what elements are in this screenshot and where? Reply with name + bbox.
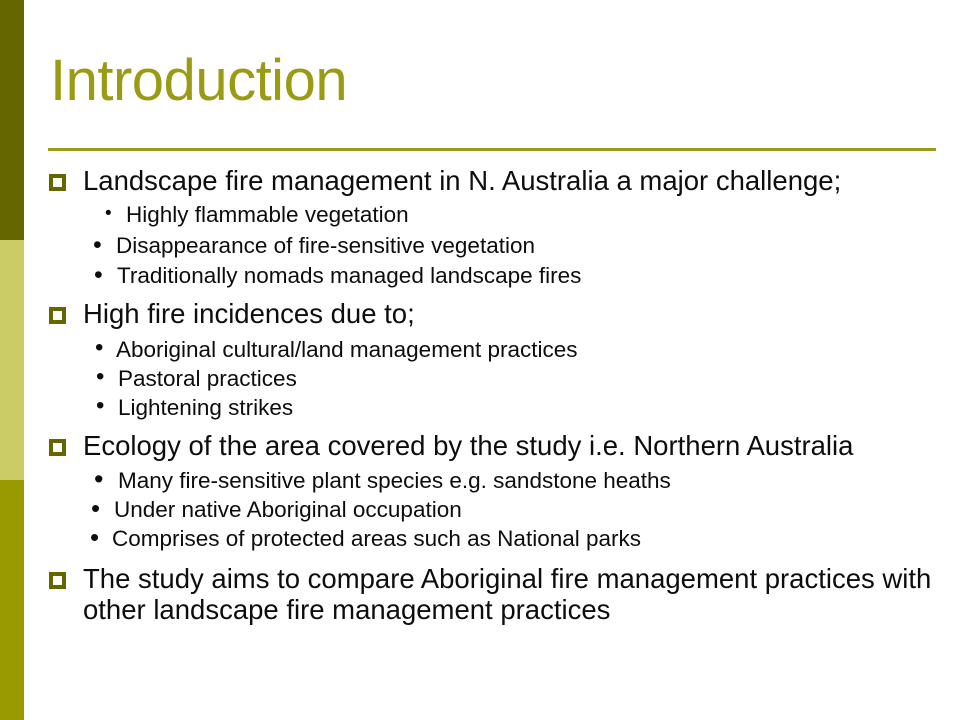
square-bullet-icon: [49, 572, 66, 589]
bullet-level1: The study aims to compare Aboriginal fir…: [44, 563, 954, 626]
bullet-text: Lightening strikes: [118, 395, 293, 420]
dot-bullet-icon: •: [94, 466, 103, 493]
bullet-text: Landscape fire management in N. Australi…: [83, 165, 841, 196]
slide-title: Introduction: [50, 52, 347, 110]
dot-bullet-icon: •: [94, 263, 103, 288]
title-divider: [48, 148, 936, 151]
bullet-level1: Landscape fire management in N. Australi…: [44, 165, 954, 196]
dot-bullet-icon: •: [90, 524, 99, 550]
bullet-level1: Ecology of the area covered by the study…: [44, 430, 954, 461]
bullet-level2: • Under native Aboriginal occupation: [44, 496, 954, 523]
bullet-text: Comprises of protected areas such as Nat…: [112, 526, 641, 551]
bullet-text: The study aims to compare Aboriginal fir…: [83, 563, 931, 625]
dot-bullet-icon: •: [105, 204, 112, 223]
slide: Introduction Landscape fire management i…: [0, 0, 960, 720]
bullet-level2: • Comprises of protected areas such as N…: [44, 525, 954, 552]
bullet-level2: • Traditionally nomads managed landscape…: [44, 262, 954, 289]
bullet-level2: • Aboriginal cultural/land management pr…: [44, 336, 954, 363]
dot-bullet-icon: •: [96, 365, 104, 389]
bullet-level2: • Pastoral practices: [44, 365, 954, 392]
square-bullet-icon: [49, 307, 66, 324]
bullet-text: High fire incidences due to;: [83, 298, 415, 329]
square-bullet-icon: [49, 174, 66, 191]
square-bullet-icon: [49, 439, 66, 456]
sidebar-band-top: [0, 0, 24, 240]
bullet-level2: • Lightening strikes: [44, 394, 954, 421]
bullet-text: Traditionally nomads managed landscape f…: [117, 263, 581, 288]
bullet-text: Pastoral practices: [118, 366, 297, 391]
slide-body: Landscape fire management in N. Australi…: [44, 165, 954, 627]
bullet-text: Aboriginal cultural/land management prac…: [116, 337, 578, 362]
dot-bullet-icon: •: [96, 394, 104, 418]
bullet-level1: High fire incidences due to;: [44, 298, 954, 329]
sidebar-band-bottom: [0, 480, 24, 720]
dot-bullet-icon: •: [95, 336, 103, 360]
dot-bullet-icon: •: [93, 233, 102, 258]
sidebar-decoration: [0, 0, 24, 720]
bullet-text: Ecology of the area covered by the study…: [83, 430, 853, 461]
dot-bullet-icon: •: [91, 495, 100, 521]
bullet-level2: • Disappearance of fire-sensitive vegeta…: [44, 232, 954, 259]
bullet-text: Under native Aboriginal occupation: [114, 497, 462, 522]
bullet-text: Highly flammable vegetation: [126, 202, 409, 227]
bullet-level2: • Many fire-sensitive plant species e.g.…: [44, 467, 954, 494]
bullet-text: Many fire-sensitive plant species e.g. s…: [118, 468, 671, 493]
bullet-text: Disappearance of fire-sensitive vegetati…: [116, 233, 535, 258]
sidebar-band-middle: [0, 240, 24, 480]
bullet-level2: • Highly flammable vegetation: [44, 201, 954, 228]
